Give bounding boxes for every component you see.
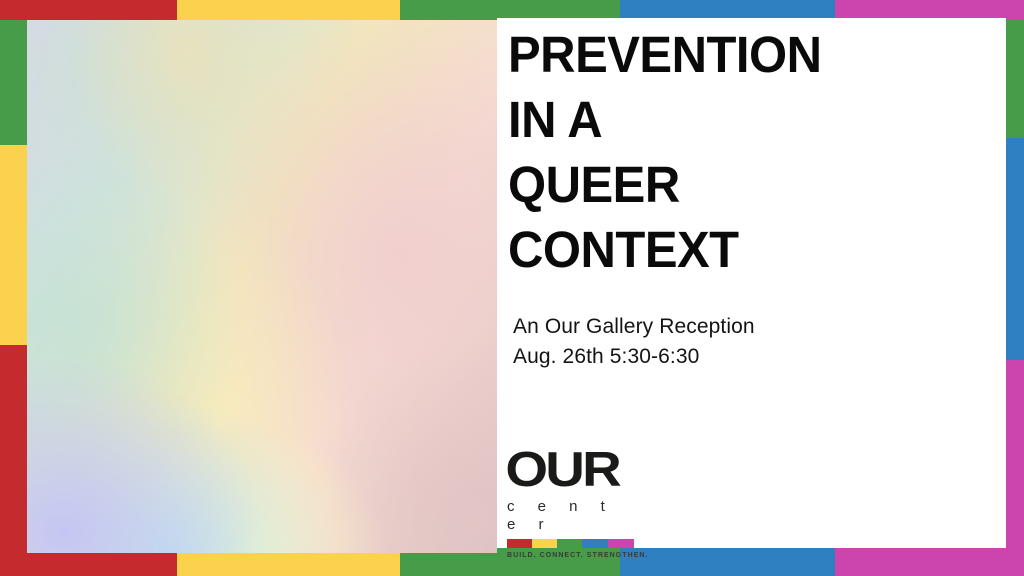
logo-rainbow-segment-blue <box>582 539 608 548</box>
headline-line-1: PREVENTION <box>508 22 998 90</box>
logo-rainbow-bar <box>507 539 634 548</box>
logo-rainbow-segment-red <box>507 539 532 548</box>
our-center-logo: OUR c e n t e r BUILD. CONNECT. STRENGTH… <box>502 446 642 560</box>
headline-line-2: IN A <box>508 87 998 155</box>
frame-segment-yellow <box>0 145 27 345</box>
page-title: PREVENTION IN A QUEER CONTEXT <box>508 22 998 282</box>
frame-right-strip <box>1006 0 1024 576</box>
logo-rainbow-segment-yellow <box>532 539 557 548</box>
content-panel: PREVENTION IN A QUEER CONTEXT An Our Gal… <box>497 18 1006 548</box>
frame-segment-red <box>0 0 27 20</box>
frame-segment-green <box>0 20 27 145</box>
frame-segment-blue <box>620 548 835 576</box>
event-details: An Our Gallery Reception Aug. 26th 5:30-… <box>513 312 983 372</box>
logo-rainbow-segment-green <box>557 539 582 548</box>
logo-wordmark: OUR <box>502 446 659 495</box>
logo-rainbow-segment-magenta <box>608 539 634 548</box>
event-poster: PREVENTION IN A QUEER CONTEXT An Our Gal… <box>0 0 1024 576</box>
frame-segment-magenta <box>1006 0 1024 20</box>
logo-subword: c e n t e r <box>502 498 642 534</box>
frame-segment-blue <box>1006 138 1024 360</box>
headline-line-3: QUEER <box>508 152 998 220</box>
frame-segment-green <box>1006 20 1024 138</box>
frame-left-strip <box>0 0 27 576</box>
headline-line-4: CONTEXT <box>508 217 998 285</box>
frame-segment-magenta <box>835 548 1024 576</box>
event-datetime: Aug. 26th 5:30-6:30 <box>513 342 983 372</box>
frame-segment-red <box>0 345 27 576</box>
frame-segment-magenta <box>1006 360 1024 576</box>
event-description: An Our Gallery Reception <box>513 312 983 342</box>
gradient-artwork <box>27 20 497 553</box>
logo-tagline: BUILD. CONNECT. STRENGTHEN. <box>507 551 642 560</box>
